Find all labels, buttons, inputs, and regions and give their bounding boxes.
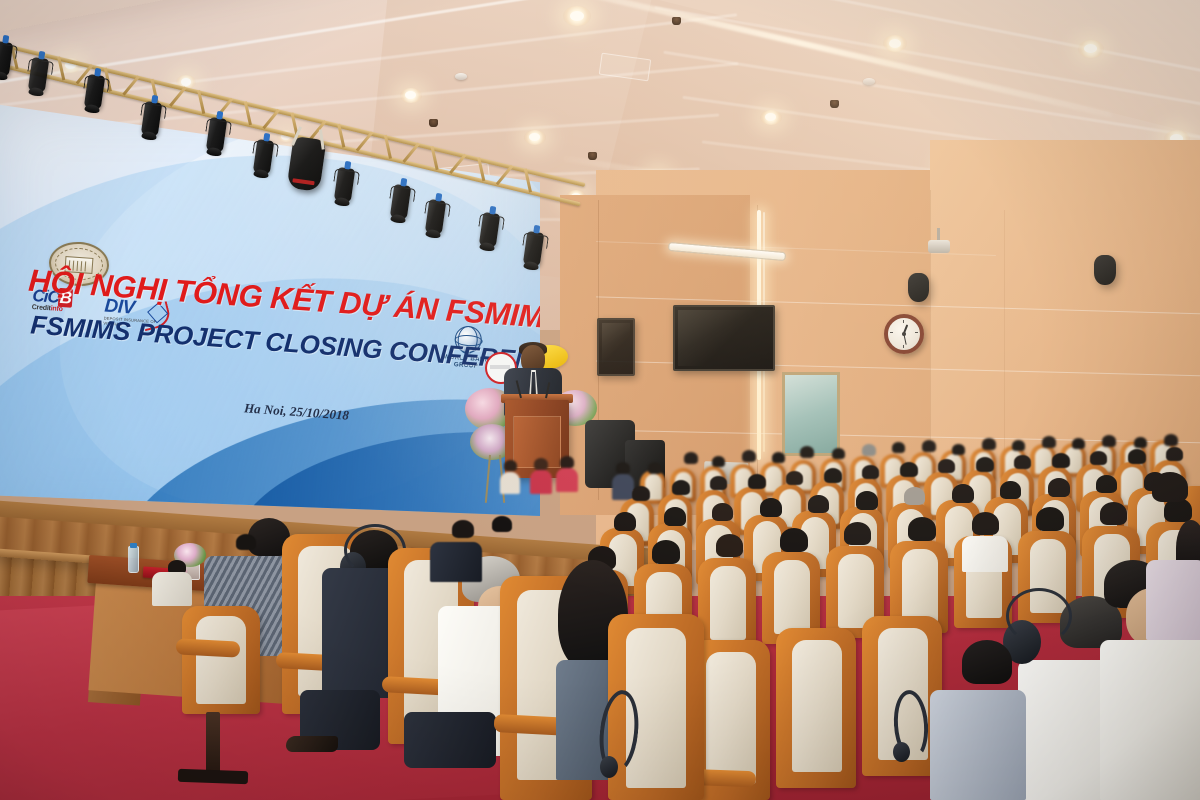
conference-hall-photo: CiCB Creditinfo DIV DEPOSIT INSURANCE OF…: [0, 0, 1200, 800]
sprinkler-head-icon: [588, 152, 597, 160]
water-bottle: [128, 546, 139, 573]
attendee-head: [1100, 502, 1127, 525]
attendee-head: [808, 495, 829, 513]
ceiling-downlight: [883, 35, 907, 52]
wall-speaker: [1094, 255, 1116, 285]
ceiling-projector: [928, 240, 950, 253]
attendee-head: [652, 540, 680, 564]
attendee-torso: [962, 536, 1008, 572]
attendee-head: [972, 512, 999, 535]
attendee-head: [904, 487, 925, 505]
sprinkler-head-icon: [672, 17, 681, 25]
side-door-glass[interactable]: [782, 372, 840, 456]
attendee-head: [760, 498, 782, 517]
attendee-torso: [1100, 640, 1200, 800]
ceiling-downlight: [1078, 40, 1104, 58]
attendee-head: [844, 522, 871, 545]
attendee-head: [1096, 475, 1117, 493]
interpretation-headset: [893, 742, 910, 762]
interpretation-headset-band: [1006, 588, 1072, 644]
attendee-torso: [1146, 560, 1200, 640]
interpretation-headset: [600, 756, 618, 778]
ceiling-downlight: [563, 6, 591, 26]
sprinkler-head-icon: [830, 100, 839, 108]
flat-screen-tv: [673, 305, 775, 371]
smoke-detector-icon: [455, 73, 467, 80]
ceiling-downlight: [524, 130, 546, 145]
attendee-torso: [152, 572, 192, 606]
attendee-head: [856, 491, 878, 510]
ceiling-downlight: [400, 88, 422, 103]
attendee-head: [1152, 472, 1188, 502]
attendee-head: [1036, 507, 1064, 531]
sprinkler-head-icon: [429, 119, 438, 127]
flat-screen-tv-secondary: [597, 318, 635, 376]
attendee-head: [1048, 478, 1070, 497]
attendee-head: [712, 503, 733, 521]
attendee-head: [664, 507, 686, 526]
attendee-legs: [404, 712, 496, 768]
attendee-head: [952, 484, 974, 503]
attendee-head: [962, 640, 1012, 684]
attendee-shoe: [286, 736, 338, 752]
attendee-head: [908, 517, 936, 541]
smoke-detector-icon: [863, 78, 875, 85]
attendee-head: [780, 528, 808, 552]
attendee-head: [716, 534, 743, 557]
ceiling-downlight: [760, 110, 782, 125]
wall-clock: [884, 314, 924, 354]
wall-speaker: [908, 273, 929, 302]
attendee-head: [1000, 481, 1021, 499]
attendee-torso: [930, 690, 1026, 800]
attendee-head: [614, 512, 636, 531]
